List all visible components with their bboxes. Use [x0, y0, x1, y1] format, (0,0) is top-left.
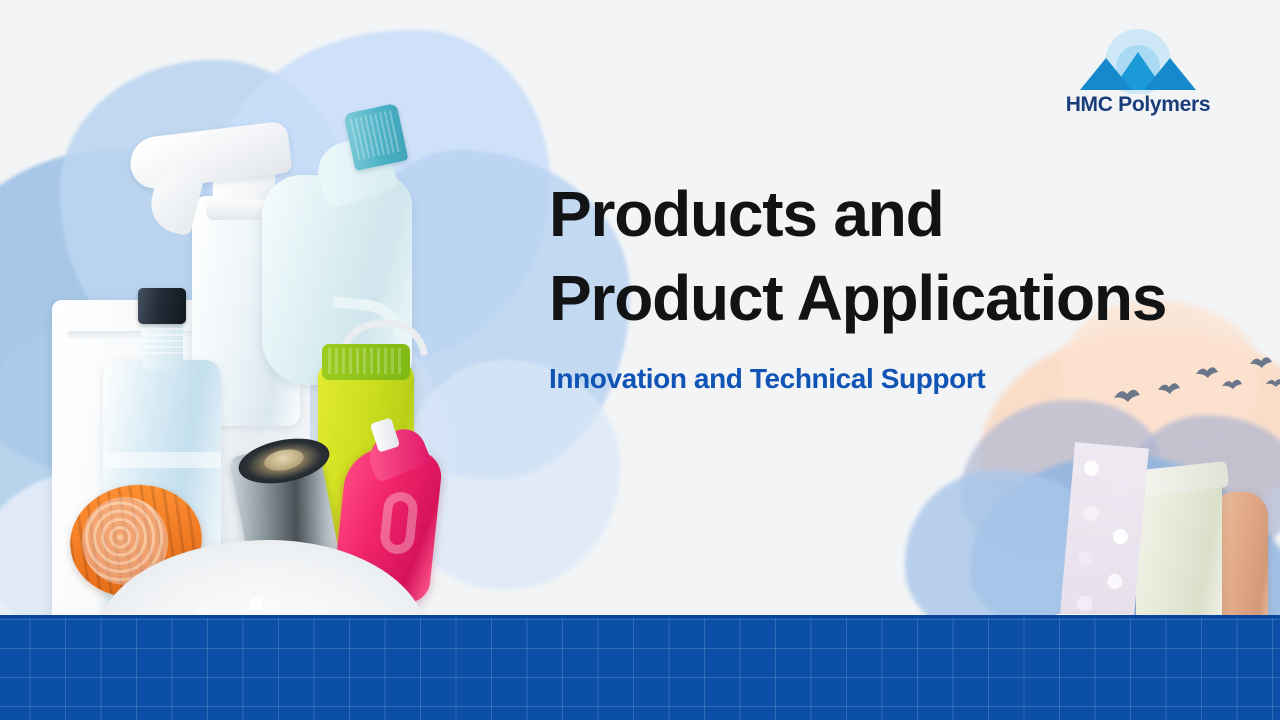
- pet-bottle-cap: [138, 288, 186, 324]
- mountain-sun-icon: [1068, 24, 1208, 94]
- hmc-polymers-logo[interactable]: HMC Polymers: [1050, 24, 1226, 124]
- headline-block: Products and Product Applications Innova…: [549, 172, 1249, 395]
- pet-bottle-neck: [141, 322, 183, 370]
- page-title-line-2: Product Applications: [549, 256, 1249, 340]
- sports-bottle-cap: [322, 344, 410, 380]
- logo-wordmark: HMC Polymers: [1066, 94, 1211, 115]
- page-subtitle: Innovation and Technical Support: [549, 363, 1249, 395]
- product-collage: [0, 0, 540, 690]
- detergent-bottle-cap: [344, 103, 409, 171]
- bottom-blue-band: [0, 615, 1280, 720]
- page-title-line-1: Products and: [549, 172, 1249, 256]
- slide-canvas: lyondellbasell I I III HMC Polymers HMC …: [0, 0, 1280, 720]
- band-grid-pattern: [0, 618, 1280, 720]
